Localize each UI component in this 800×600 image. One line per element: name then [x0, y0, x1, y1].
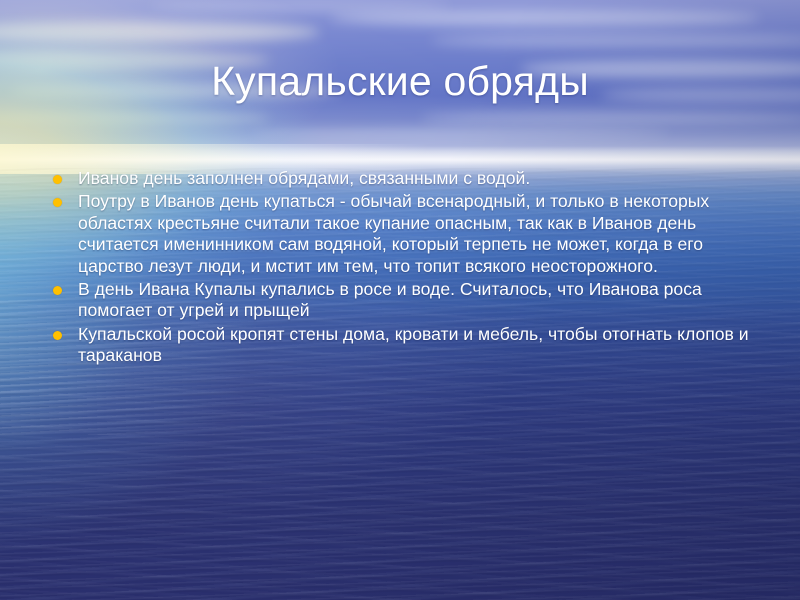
bullet-list-item: В день Ивана Купалы купались в росе и во… — [48, 279, 754, 322]
presentation-slide: Купальские обряды Иванов день заполнен о… — [0, 0, 800, 600]
bullet-text: Поутру в Иванов день купаться - обычай в… — [78, 191, 709, 275]
bullet-text: Купальской росой кропят стены дома, кров… — [78, 324, 749, 365]
slide-bullet-list: Иванов день заполнен обрядами, связанным… — [48, 168, 754, 369]
bullet-list-item: Поутру в Иванов день купаться - обычай в… — [48, 191, 754, 277]
bullet-dot-icon — [53, 198, 62, 207]
slide-title: Купальские обряды — [50, 56, 750, 106]
bullet-list-item: Иванов день заполнен обрядами, связанным… — [48, 168, 754, 189]
bullet-text: Иванов день заполнен обрядами, связанным… — [78, 168, 530, 188]
bullet-dot-icon — [53, 175, 62, 184]
slide-content: Купальские обряды Иванов день заполнен о… — [0, 0, 800, 600]
bullet-dot-icon — [53, 331, 62, 340]
bullet-list-item: Купальской росой кропят стены дома, кров… — [48, 324, 754, 367]
bullet-text: В день Ивана Купалы купались в росе и во… — [78, 279, 702, 320]
bullet-dot-icon — [53, 286, 62, 295]
